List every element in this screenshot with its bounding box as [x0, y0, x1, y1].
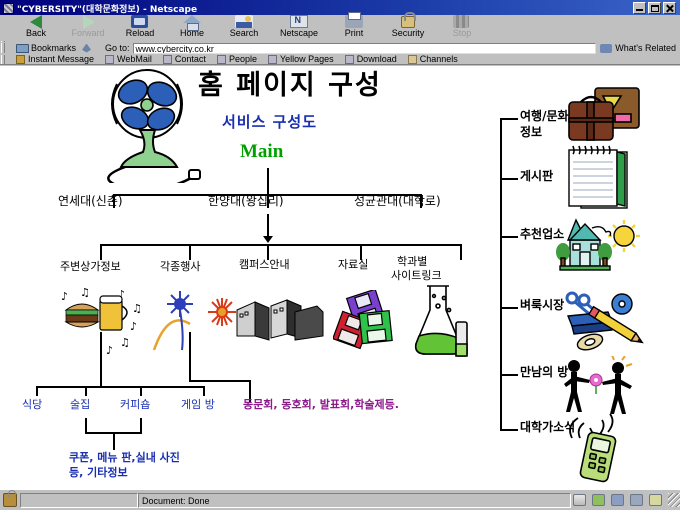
- node-leaf-cafe: 커피숍: [120, 399, 150, 412]
- bookmarks-button[interactable]: Bookmarks: [16, 43, 91, 53]
- node-right-travel-line2: 정보: [520, 126, 542, 140]
- connector-shops-down: [100, 332, 102, 388]
- connector-right-2: [500, 178, 518, 180]
- two-people-icon: [556, 356, 642, 416]
- home-button[interactable]: Home: [166, 15, 218, 41]
- node-category-shops: 주변상가정보: [60, 261, 121, 274]
- forward-button-label: Forward: [71, 28, 104, 38]
- reload-button-label: Reload: [126, 28, 155, 38]
- component-composer-icon[interactable]: [649, 494, 662, 506]
- component-navigator-icon[interactable]: [573, 494, 586, 506]
- yellow-pages-icon: [268, 55, 277, 64]
- node-category-events: 각종행사: [160, 261, 200, 274]
- stop-icon: [453, 15, 469, 28]
- back-button[interactable]: Back: [10, 15, 62, 41]
- connector-leaf-1: [36, 386, 38, 396]
- page-proxy-icon[interactable]: [82, 44, 91, 53]
- stop-button-label: Stop: [453, 28, 472, 38]
- connector-events-right: [189, 380, 251, 382]
- svg-text:♫: ♫: [132, 302, 142, 315]
- bookmark-folder-icon: [16, 44, 29, 53]
- url-input[interactable]: www.cybercity.co.kr: [133, 43, 597, 54]
- electric-fan-icon: [85, 68, 210, 183]
- toolbar-link-yellow-pages[interactable]: Yellow Pages: [268, 54, 334, 64]
- bookmarks-label: Bookmarks: [31, 43, 76, 53]
- connector-events-down: [189, 332, 191, 382]
- instant-message-icon: [16, 55, 25, 64]
- reload-icon: [131, 15, 148, 28]
- connector-cat-5: [460, 244, 462, 260]
- stop-button[interactable]: Stop: [436, 15, 488, 41]
- node-category-campus: 캠퍼스안내: [239, 259, 290, 272]
- back-button-label: Back: [26, 28, 46, 38]
- connector-cat-1: [100, 244, 102, 260]
- contact-icon: [163, 55, 172, 64]
- page-title: 홈 페이지 구성: [198, 70, 382, 101]
- connector-categories-bar: [100, 244, 462, 246]
- netscape-button-label: Netscape: [280, 28, 318, 38]
- node-right-fleamarket: 벼룩시장: [520, 299, 564, 313]
- resize-grip[interactable]: [668, 493, 680, 507]
- floppy-disks-icon: [333, 290, 405, 352]
- close-button[interactable]: [663, 2, 676, 14]
- forward-button[interactable]: Forward: [62, 15, 114, 41]
- root-node-main: Main: [240, 141, 283, 163]
- connector-right-1: [500, 118, 518, 120]
- connector-arrow-down: [263, 236, 273, 243]
- webmail-icon: [105, 55, 114, 64]
- status-bar: Document: Done: [0, 490, 680, 510]
- padlock-icon[interactable]: [3, 493, 17, 507]
- connector-main-down: [267, 168, 269, 196]
- node-leaf-bar: 술집: [70, 399, 90, 412]
- svg-text:♪: ♪: [61, 290, 68, 303]
- personal-toolbar: Instant Message WebMail Contact People Y…: [0, 54, 680, 65]
- connector-leaf-2: [85, 386, 87, 396]
- progress-area: [20, 493, 138, 508]
- svg-text:♫: ♫: [80, 288, 90, 299]
- burger-beer-icon: ♪♫♪ ♫♪♫ ♪: [58, 288, 158, 358]
- component-newsgroups-icon[interactable]: [611, 494, 624, 506]
- toolbar-link-download[interactable]: Download: [345, 54, 397, 64]
- print-button[interactable]: Print: [328, 15, 380, 41]
- node-shop-detail-line1: 쿠폰, 메뉴 판,실내 사진: [69, 452, 180, 465]
- node-event-detail: 동문회, 동호회, 발표회,학술제등.: [243, 399, 399, 412]
- node-category-dept-links-line2: 사이트링크: [391, 270, 442, 283]
- security-button[interactable]: Security: [380, 15, 436, 41]
- toolbar-link-channels[interactable]: Channels: [408, 54, 458, 64]
- minimize-button[interactable]: [633, 2, 646, 14]
- connector-shop-leaves-bar: [36, 386, 204, 388]
- node-leaf-restaurant: 식당: [22, 399, 42, 412]
- forward-arrow-icon: [83, 15, 95, 29]
- people-icon: [217, 55, 226, 64]
- node-right-travel-line1: 여행/문화: [520, 110, 569, 124]
- connector-detail-down: [113, 432, 115, 450]
- svg-text:♪: ♪: [106, 344, 113, 357]
- netscape-button[interactable]: Netscape: [270, 15, 328, 41]
- reload-button[interactable]: Reload: [114, 15, 166, 41]
- stationery-icon: [560, 290, 646, 352]
- search-button-label: Search: [230, 28, 259, 38]
- lock-icon: [401, 16, 415, 28]
- back-arrow-icon: [30, 15, 42, 29]
- toolbar-link-instant-message[interactable]: Instant Message: [16, 54, 94, 64]
- svg-text:♪: ♪: [130, 320, 137, 333]
- navigation-toolbar: Back Forward Reload Home Search Netscape: [0, 28, 680, 41]
- toolbar-link-contact[interactable]: Contact: [163, 54, 206, 64]
- connector-right-6: [500, 429, 518, 431]
- printer-icon: [345, 15, 363, 28]
- connector-right-3: [500, 236, 518, 238]
- whats-related-button[interactable]: What's Related: [600, 43, 676, 53]
- mobile-phone-icon: [562, 414, 640, 486]
- house-sun-icon: [556, 218, 642, 280]
- channels-icon: [408, 55, 417, 64]
- component-bar: [573, 494, 668, 506]
- connector-right-4: [500, 307, 518, 309]
- page-content: 홈 페이지 구성 서비스 구성도 Main 연세대(신촌) 한양대(왕십리) 성…: [0, 66, 680, 490]
- node-university-sungkyunkwan: 성균관대(대학로): [354, 195, 441, 209]
- toolbar-link-webmail[interactable]: WebMail: [105, 54, 152, 64]
- node-shop-detail-line2: 등, 기타정보: [69, 467, 128, 480]
- netscape-browser-window: "CYBERSITY"(대학문화정보) - Netscape File Edit…: [0, 0, 680, 510]
- status-message: Document: Done: [138, 493, 571, 508]
- title-bar: "CYBERSITY"(대학문화정보) - Netscape: [0, 0, 680, 16]
- whats-related-icon: [600, 44, 612, 53]
- location-bar: Bookmarks Go to: www.cybercity.co.kr Wha…: [0, 42, 680, 54]
- download-icon: [345, 55, 354, 64]
- svg-text:♫: ♫: [120, 336, 130, 349]
- toolbar-link-people[interactable]: People: [217, 54, 257, 64]
- campus-buildings-icon: [235, 296, 325, 342]
- maximize-button[interactable]: [648, 2, 661, 14]
- component-addressbook-icon[interactable]: [630, 494, 643, 506]
- node-university-hanyang: 한양대(왕십리): [208, 195, 284, 209]
- location-grip-handle[interactable]: [1, 43, 5, 53]
- flask-icon: [408, 282, 474, 362]
- window-title: "CYBERSITY"(대학문화정보) - Netscape: [17, 2, 633, 15]
- node-university-yonsei: 연세대(신촌): [58, 195, 123, 209]
- component-mailbox-icon[interactable]: [592, 494, 605, 506]
- search-button[interactable]: Search: [218, 15, 270, 41]
- netscape-icon: [290, 15, 308, 28]
- home-icon: [183, 15, 201, 23]
- security-button-label: Security: [392, 28, 425, 38]
- window-controls: [633, 2, 678, 14]
- goto-label: Go to:: [105, 43, 130, 53]
- fireworks-icon: [150, 288, 245, 356]
- node-category-archive: 자료실: [338, 259, 368, 272]
- app-icon: [3, 3, 14, 14]
- print-button-label: Print: [345, 28, 364, 38]
- whats-related-label: What's Related: [615, 43, 676, 53]
- connector-cat-2: [189, 244, 191, 260]
- connector-leaf-4: [203, 386, 205, 396]
- search-icon: [235, 15, 253, 28]
- node-right-board: 게시판: [520, 170, 553, 184]
- node-category-dept-links-line1: 학과별: [397, 256, 427, 269]
- page-subtitle: 서비스 구성도: [222, 114, 317, 131]
- connector-right-5: [500, 374, 518, 376]
- node-leaf-gameroom: 게임 방: [181, 399, 215, 412]
- notepad-icon: [565, 144, 637, 212]
- connector-right-spine: [500, 118, 502, 430]
- luggage-icon: [563, 86, 643, 148]
- connector-leaf-3: [140, 386, 142, 396]
- personal-grip-handle[interactable]: [1, 55, 5, 64]
